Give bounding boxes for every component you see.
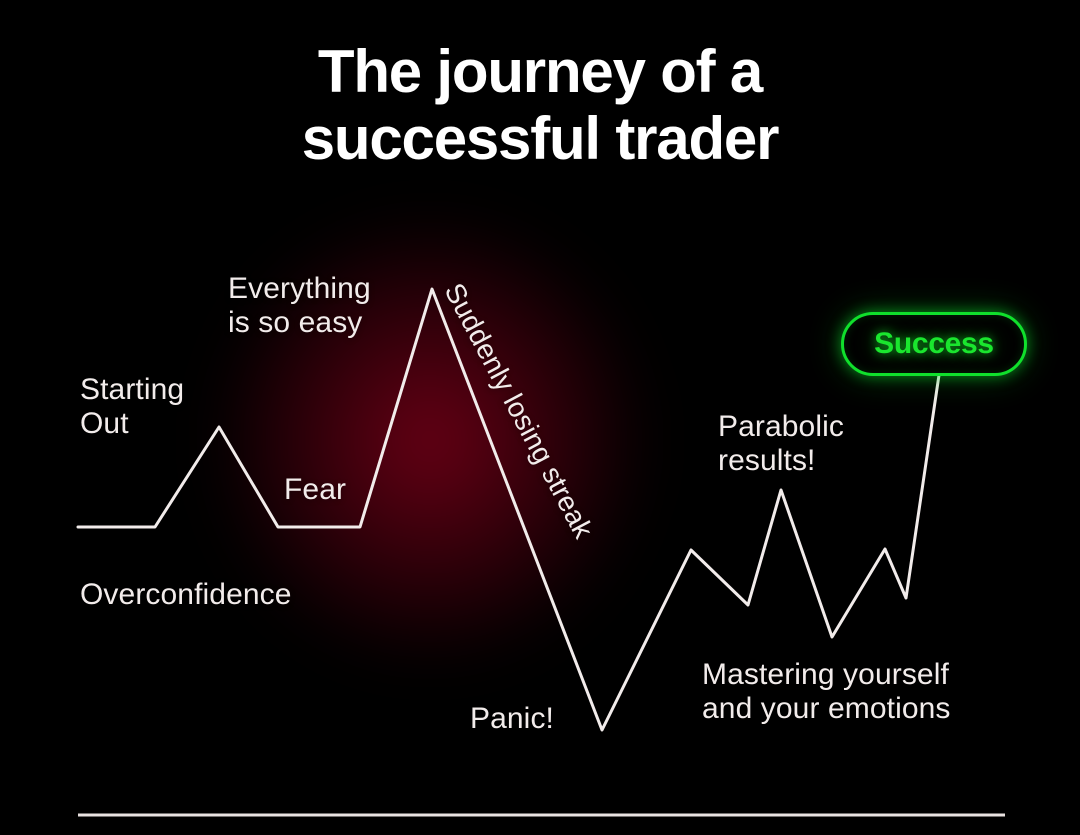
label-overconfidence: Overconfidence [80, 578, 292, 612]
label-everything-is-so-easy: Everything is so easy [228, 272, 371, 340]
infographic-canvas: The journey of a successful trader Start… [0, 0, 1080, 835]
label-starting-out: Starting Out [80, 373, 184, 441]
success-badge: Success [841, 312, 1027, 376]
label-panic: Panic! [470, 702, 554, 736]
success-badge-label: Success [874, 327, 994, 361]
label-mastering-yourself: Mastering yourself and your emotions [702, 658, 951, 726]
label-parabolic-results: Parabolic results! [718, 410, 844, 478]
label-fear: Fear [284, 473, 346, 507]
